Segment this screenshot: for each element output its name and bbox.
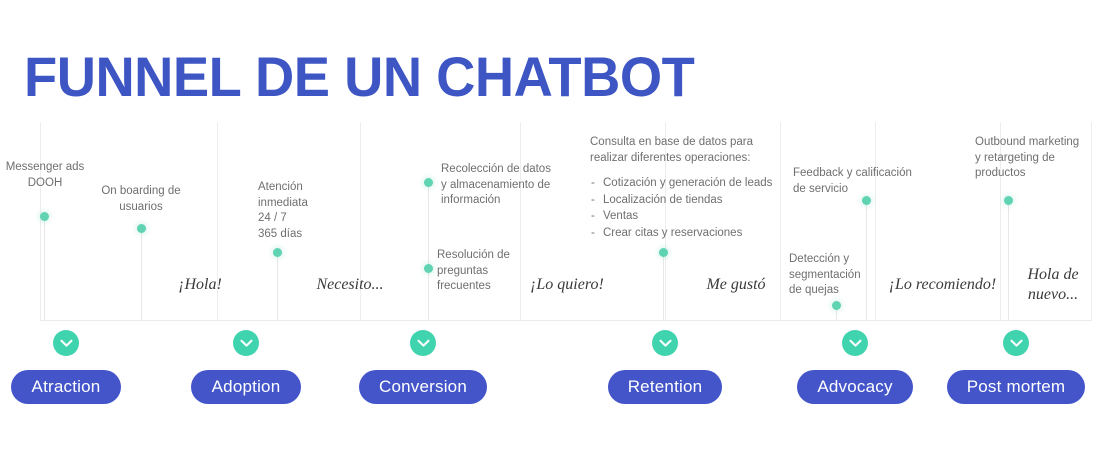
note-outbound-marketing: Outbound marketing y retargeting de prod… xyxy=(975,135,1095,182)
funnel-infographic: FUNNEL DE UN CHATBOT Messen xyxy=(0,0,1100,455)
note-feedback-calificacion: Feedback y calificación de servicio xyxy=(793,166,913,197)
stage-button-label[interactable]: Retention xyxy=(608,370,723,404)
note-lead: Consulta en base de datos para realizar … xyxy=(590,135,810,166)
list-item: Cotización y generación de leads xyxy=(590,175,810,192)
timeline-dot[interactable] xyxy=(424,178,433,187)
stage-button-label[interactable]: Adoption xyxy=(191,370,301,404)
note-consulta-base-datos: Consulta en base de datos para realizar … xyxy=(590,135,810,241)
stage-button-label[interactable]: Post mortem xyxy=(947,370,1086,404)
timeline-chart: Messenger ads DOOH On boarding de usuari… xyxy=(0,120,1100,325)
timeline-dot[interactable] xyxy=(832,301,841,310)
quote-me-gusto: Me gustó xyxy=(686,275,786,295)
timeline-stem xyxy=(141,228,142,320)
quote-hola-de-nuevo: Hola de nuevo... xyxy=(1014,265,1092,305)
chevron-down-icon[interactable] xyxy=(842,330,868,356)
timeline-dot[interactable] xyxy=(659,248,668,257)
list-item: Ventas xyxy=(590,208,810,225)
timeline-stem xyxy=(44,216,45,320)
chevron-down-icon[interactable] xyxy=(233,330,259,356)
chevron-down-icon[interactable] xyxy=(1003,330,1029,356)
timeline-dot[interactable] xyxy=(40,212,49,221)
timeline-baseline xyxy=(40,320,1092,321)
timeline-dot[interactable] xyxy=(862,196,871,205)
quote-hola: ¡Hola! xyxy=(145,275,255,295)
funnel-stages: Atraction Adoption Conversion xyxy=(0,330,1100,455)
quote-lo-recomiendo: ¡Lo recomiendo! xyxy=(880,275,1005,295)
stage-retention[interactable]: Retention xyxy=(604,330,726,404)
timeline-stem xyxy=(1008,200,1009,320)
note-on-boarding: On boarding de usuarios xyxy=(91,184,191,215)
stage-advocacy[interactable]: Advocacy xyxy=(796,330,914,404)
stage-button-label[interactable]: Advocacy xyxy=(797,370,912,404)
quote-necesito: Necesito... xyxy=(290,275,410,295)
timeline-stem xyxy=(428,182,429,320)
timeline-dot[interactable] xyxy=(424,264,433,273)
timeline-stem xyxy=(277,252,278,320)
stage-atraction[interactable]: Atraction xyxy=(10,330,122,404)
timeline-stem xyxy=(663,252,664,320)
note-deteccion-quejas: Detección y segmentación de quejas xyxy=(789,252,879,299)
stage-adoption[interactable]: Adoption xyxy=(190,330,302,404)
stage-conversion[interactable]: Conversion xyxy=(360,330,486,404)
chevron-down-icon[interactable] xyxy=(53,330,79,356)
column-divider xyxy=(40,122,41,320)
chevron-down-icon[interactable] xyxy=(410,330,436,356)
list-item: Localización de tiendas xyxy=(590,192,810,209)
note-messenger-ads: Messenger ads DOOH xyxy=(0,160,90,191)
quote-lo-quiero: ¡Lo quiero! xyxy=(512,275,622,295)
stage-button-label[interactable]: Atraction xyxy=(11,370,121,404)
page-title: FUNNEL DE UN CHATBOT xyxy=(24,46,694,108)
stage-button-label[interactable]: Conversion xyxy=(359,370,487,404)
list-item: Crear citas y reservaciones xyxy=(590,225,810,242)
timeline-dot[interactable] xyxy=(1004,196,1013,205)
stage-post-mortem[interactable]: Post mortem xyxy=(950,330,1082,404)
note-recoleccion-datos: Recolección de datos y almacenamiento de… xyxy=(441,162,566,209)
consulta-operations-list: Cotización y generación de leads Localiz… xyxy=(590,175,810,241)
timeline-dot[interactable] xyxy=(137,224,146,233)
note-atencion-inmediata: Atención inmediata 24 / 7 365 días xyxy=(258,180,348,242)
timeline-dot[interactable] xyxy=(273,248,282,257)
chevron-down-icon[interactable] xyxy=(652,330,678,356)
